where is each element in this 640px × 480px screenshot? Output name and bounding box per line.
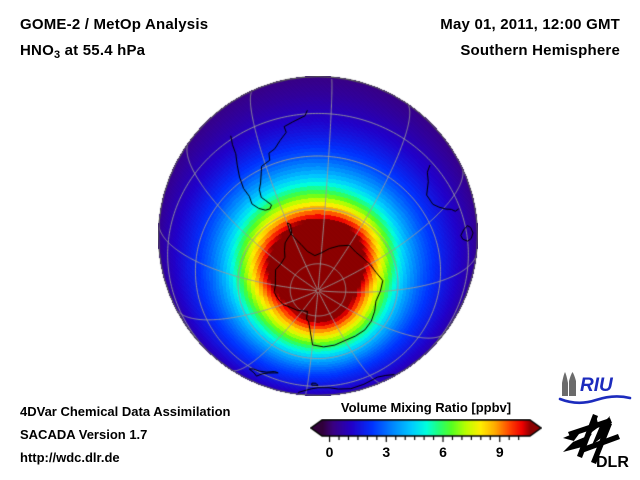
- datetime-label: May 01, 2011, 12:00 GMT: [440, 16, 620, 33]
- credit-line-method: 4DVar Chemical Data Assimilation: [20, 404, 231, 419]
- species-subscript: 3: [54, 49, 60, 61]
- credit-line-version: SACADA Version 1.7: [20, 427, 147, 442]
- credit-line-url: http://wdc.dlr.de: [20, 450, 120, 465]
- riu-logo: RIU: [558, 372, 632, 406]
- region-label: Southern Hemisphere: [460, 42, 620, 59]
- colorbar-gradient: [310, 419, 542, 443]
- colorbar-tick-label: 0: [326, 444, 334, 460]
- riu-wave-icon: [560, 396, 630, 402]
- riu-wordmark: RIU: [580, 375, 614, 396]
- colorbar-tick-label: 6: [439, 444, 447, 460]
- dlr-logo: DLR: [560, 412, 634, 470]
- species-name: HNO: [20, 42, 54, 59]
- colorbar-title: Volume Mixing Ratio [ppbv]: [310, 400, 542, 415]
- figure-root: GOME-2 / MetOp Analysis HNO3 at 55.4 hPa…: [0, 0, 640, 480]
- instrument-title: GOME-2 / MetOp Analysis: [20, 16, 208, 33]
- colorbar-tick-labels: 0369: [310, 444, 542, 466]
- species-title: HNO3 at 55.4 hPa: [20, 42, 145, 59]
- dlr-wordmark: DLR: [596, 454, 629, 470]
- colorbar-tick-label: 3: [382, 444, 390, 460]
- riu-tower-icon: [562, 372, 576, 396]
- colorbar: Volume Mixing Ratio [ppbv] 0369: [310, 400, 542, 472]
- polar-map-canvas: [158, 76, 478, 396]
- species-level: at 55.4 hPa: [60, 42, 145, 59]
- polar-map: [158, 76, 478, 396]
- colorbar-tick-label: 9: [496, 444, 504, 460]
